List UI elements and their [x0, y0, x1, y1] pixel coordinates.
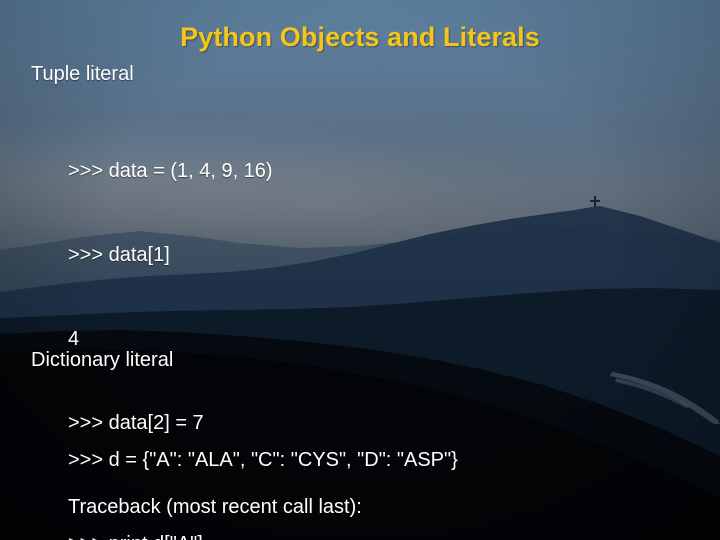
code-block-dictionary-literal: >>> d = {"A": "ALA", "C": "CYS", "D": "A…	[68, 390, 458, 540]
section-heading-dictionary-literal: Dictionary literal	[31, 349, 173, 372]
code-line: >>> d = {"A": "ALA", "C": "CYS", "D": "A…	[68, 446, 458, 474]
section-heading-tuple-literal: Tuple literal	[31, 63, 134, 86]
slide-canvas: Python Objects and Literals Tuple litera…	[0, 0, 720, 540]
code-line: >>> data[1]	[68, 241, 513, 269]
page-title: Python Objects and Literals	[0, 22, 720, 53]
code-line: >>> data = (1, 4, 9, 16)	[68, 157, 513, 185]
code-line: >>> print d["A"]	[68, 530, 458, 540]
